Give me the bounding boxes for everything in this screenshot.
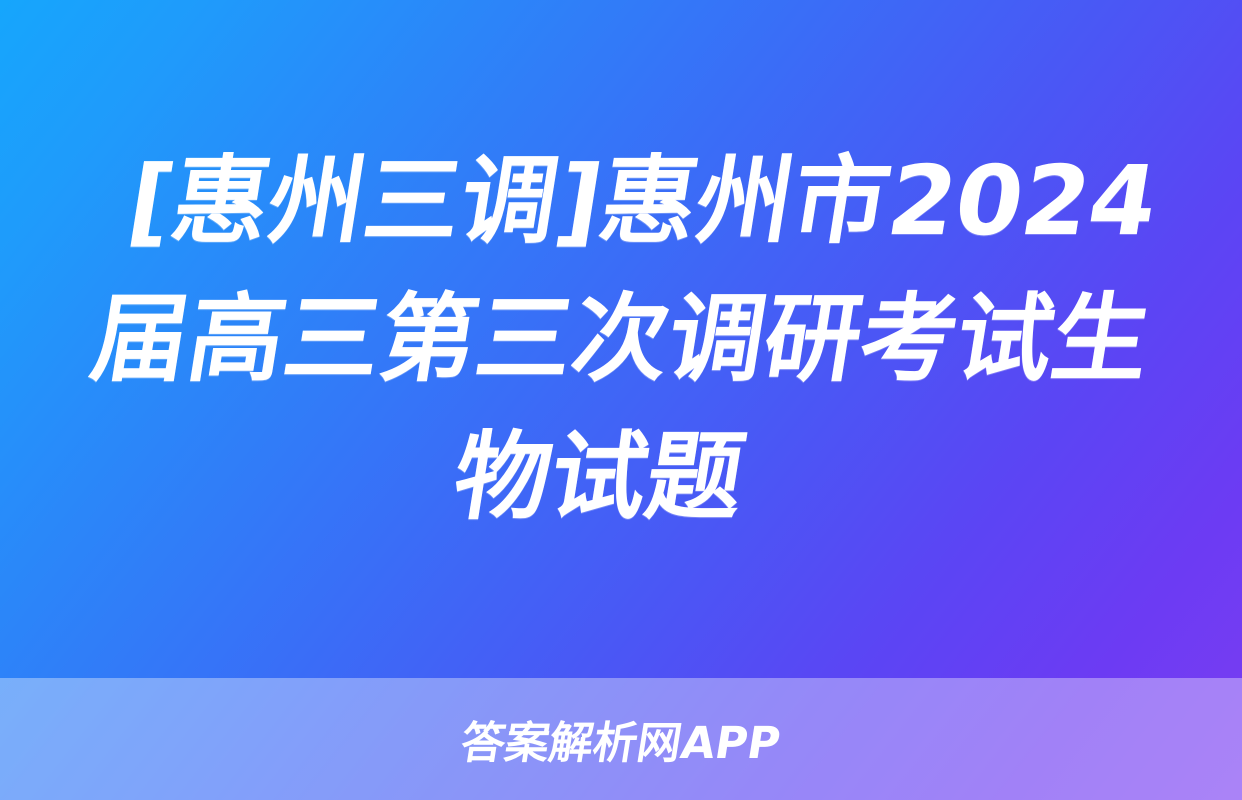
page-title: [惠州三调]惠州市2024届高三第三次调研考试生物试题: [27, 132, 1215, 547]
poster-canvas: [惠州三调]惠州市2024届高三第三次调研考试生物试题 答案解析网APP: [0, 0, 1242, 800]
watermark-label: 答案解析网APP: [457, 707, 786, 771]
watermark-band: 答案解析网APP: [0, 678, 1242, 800]
headline-block: [惠州三调]惠州市2024届高三第三次调研考试生物试题: [0, 0, 1242, 678]
